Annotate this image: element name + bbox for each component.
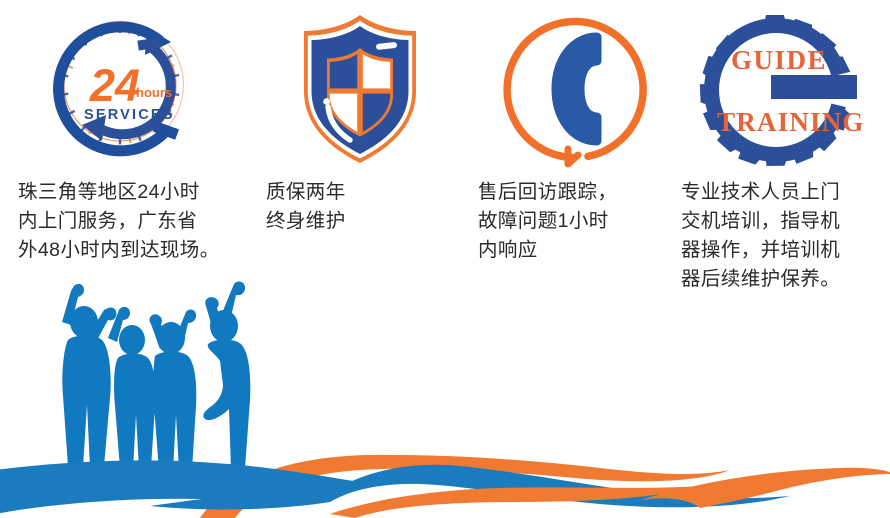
feature-item-24h: 24 hours SERVICES 珠三角等地区24小时 内上门服务，广东省 外… [0,0,232,300]
phone-handset [556,37,597,141]
feature-item-callback: 售后回访跟踪， 故障问题1小时 内响应 [460,0,670,300]
feature-item-warranty: 质保两年 终身维护 [232,0,460,300]
icon-number-24: 24 [89,60,140,111]
icon-slot-3 [470,0,670,178]
24-hours-services-icon: 24 hours SERVICES [44,9,196,169]
feature-caption-24h: 珠三角等地区24小时 内上门服务，广东省 外48小时内到达现场。 [10,178,233,265]
wave-ribbon-decoration [0,426,890,518]
shield-highlight-dot [323,98,330,105]
icon-label-guide: GUIDE [731,45,827,75]
icon-label-services: SERVICES [84,107,175,123]
feature-caption-warranty: 质保两年 终身维护 [250,178,466,236]
feature-row: 24 hours SERVICES 珠三角等地区24小时 内上门服务，广东省 外… [0,0,890,300]
icon-label-hours: hours [136,85,172,100]
icon-slot-1: 24 hours SERVICES [10,0,232,178]
phone-callback-icon [498,9,658,169]
icon-label-training: TRAINING [717,107,865,137]
speech-bubble-tail [568,149,578,164]
feature-item-training: GUIDE TRAINING 专业技术人员上门 交机培训，指导机 器操作，并培训… [670,0,890,300]
gear-g-shape [700,15,870,166]
service-features-banner: 24 hours SERVICES 珠三角等地区24小时 内上门服务，广东省 外… [0,0,890,518]
feature-caption-training: 专业技术人员上门 交机培训，指导机 器操作，并培训机 器后续维护保养。 [675,178,890,294]
shield-warranty-icon [294,9,426,169]
feature-caption-callback: 售后回访跟踪， 故障问题1小时 内响应 [470,178,678,265]
gear-guide-training-icon: GUIDE TRAINING [695,9,870,169]
wave-ribbon-svg [0,426,890,518]
icon-slot-2 [250,0,460,178]
icon-slot-4: GUIDE TRAINING [675,0,890,178]
